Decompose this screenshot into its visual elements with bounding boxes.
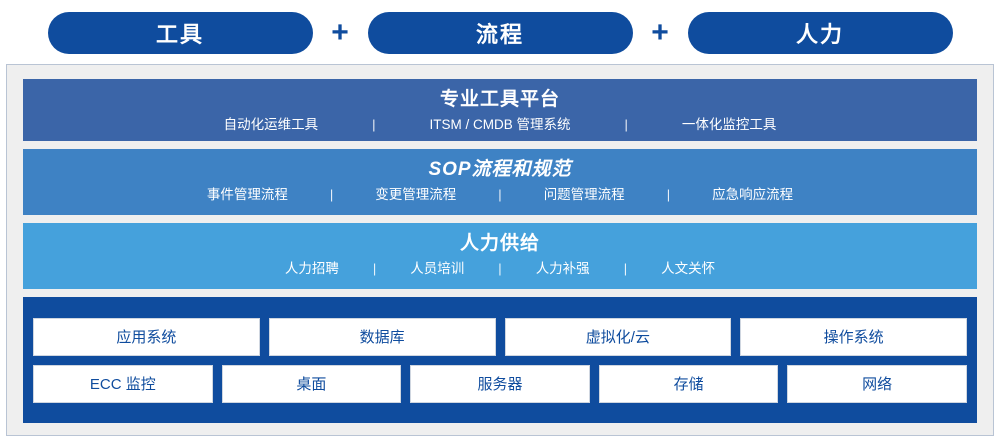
layer-item[interactable]: 人文关怀 bbox=[661, 258, 715, 280]
managed-objects-frame: 应用系统 数据库 虚拟化/云 操作系统 ECC 监控 桌面 服务器 存储 网络 bbox=[23, 297, 977, 423]
item-separator: | bbox=[623, 114, 630, 136]
layers-panel: 专业工具平台 自动化运维工具 | ITSM / CMDB 管理系统 | 一体化监… bbox=[6, 64, 994, 436]
object-card-application-system[interactable]: 应用系统 bbox=[33, 318, 260, 356]
layer-items-tools-platform: 自动化运维工具 | ITSM / CMDB 管理系统 | 一体化监控工具 bbox=[23, 114, 977, 136]
layer-items-sop-process: 事件管理流程 | 变更管理流程 | 问题管理流程 | 应急响应流程 bbox=[23, 184, 977, 206]
layer-item[interactable]: 变更管理流程 bbox=[375, 184, 456, 206]
pill-process[interactable]: 流程 bbox=[368, 12, 633, 54]
pill-tools[interactable]: 工具 bbox=[48, 12, 313, 54]
layer-title-sop-process: SOP流程和规范 bbox=[23, 156, 977, 184]
item-separator: | bbox=[496, 184, 503, 206]
layer-band-sop-process: SOP流程和规范 事件管理流程 | 变更管理流程 | 问题管理流程 | 应急响应… bbox=[23, 149, 977, 215]
object-card-network[interactable]: 网络 bbox=[787, 365, 967, 403]
plus-separator-2: + bbox=[633, 18, 688, 48]
pill-tools-label: 工具 bbox=[156, 17, 204, 49]
object-row-2: ECC 监控 桌面 服务器 存储 网络 bbox=[33, 365, 967, 403]
layer-title-tools-platform: 专业工具平台 bbox=[23, 86, 977, 114]
layer-item[interactable]: 人员培训 bbox=[410, 258, 464, 280]
diagram-canvas: 工具 + 流程 + 人力 专业工具平台 自动化运维工具 | ITSM / CMD… bbox=[0, 0, 1000, 442]
item-separator: | bbox=[496, 258, 503, 280]
item-separator: | bbox=[622, 258, 629, 280]
layer-band-manpower-supply: 人力供给 人力招聘 | 人员培训 | 人力补强 | 人文关怀 bbox=[23, 223, 977, 289]
layer-item[interactable]: 自动化运维工具 bbox=[224, 114, 319, 136]
object-card-virtualization-cloud[interactable]: 虚拟化/云 bbox=[505, 318, 732, 356]
object-card-operating-system[interactable]: 操作系统 bbox=[740, 318, 967, 356]
object-card-ecc-monitoring[interactable]: ECC 监控 bbox=[33, 365, 213, 403]
layer-band-tools-platform: 专业工具平台 自动化运维工具 | ITSM / CMDB 管理系统 | 一体化监… bbox=[23, 79, 977, 141]
object-card-database[interactable]: 数据库 bbox=[269, 318, 496, 356]
layer-item[interactable]: 人力招聘 bbox=[285, 258, 339, 280]
pill-manpower-label: 人力 bbox=[796, 17, 844, 49]
layer-item[interactable]: ITSM / CMDB 管理系统 bbox=[430, 114, 571, 136]
layer-item[interactable]: 人力补强 bbox=[536, 258, 590, 280]
item-separator: | bbox=[328, 184, 335, 206]
item-separator: | bbox=[370, 114, 377, 136]
layer-items-manpower-supply: 人力招聘 | 人员培训 | 人力补强 | 人文关怀 bbox=[23, 258, 977, 280]
plus-separator-1: + bbox=[313, 18, 368, 48]
layer-item[interactable]: 事件管理流程 bbox=[207, 184, 288, 206]
pill-manpower[interactable]: 人力 bbox=[688, 12, 953, 54]
object-card-storage[interactable]: 存储 bbox=[599, 365, 779, 403]
object-card-desktop[interactable]: 桌面 bbox=[222, 365, 402, 403]
item-separator: | bbox=[665, 184, 672, 206]
item-separator: | bbox=[371, 258, 378, 280]
layer-title-manpower-supply: 人力供给 bbox=[23, 230, 977, 258]
object-row-1: 应用系统 数据库 虚拟化/云 操作系统 bbox=[33, 318, 967, 356]
layer-item[interactable]: 一体化监控工具 bbox=[682, 114, 777, 136]
pill-process-label: 流程 bbox=[476, 17, 524, 49]
object-card-server[interactable]: 服务器 bbox=[410, 365, 590, 403]
top-pill-row: 工具 + 流程 + 人力 bbox=[0, 8, 1000, 58]
layer-item[interactable]: 问题管理流程 bbox=[544, 184, 625, 206]
layer-item[interactable]: 应急响应流程 bbox=[712, 184, 793, 206]
